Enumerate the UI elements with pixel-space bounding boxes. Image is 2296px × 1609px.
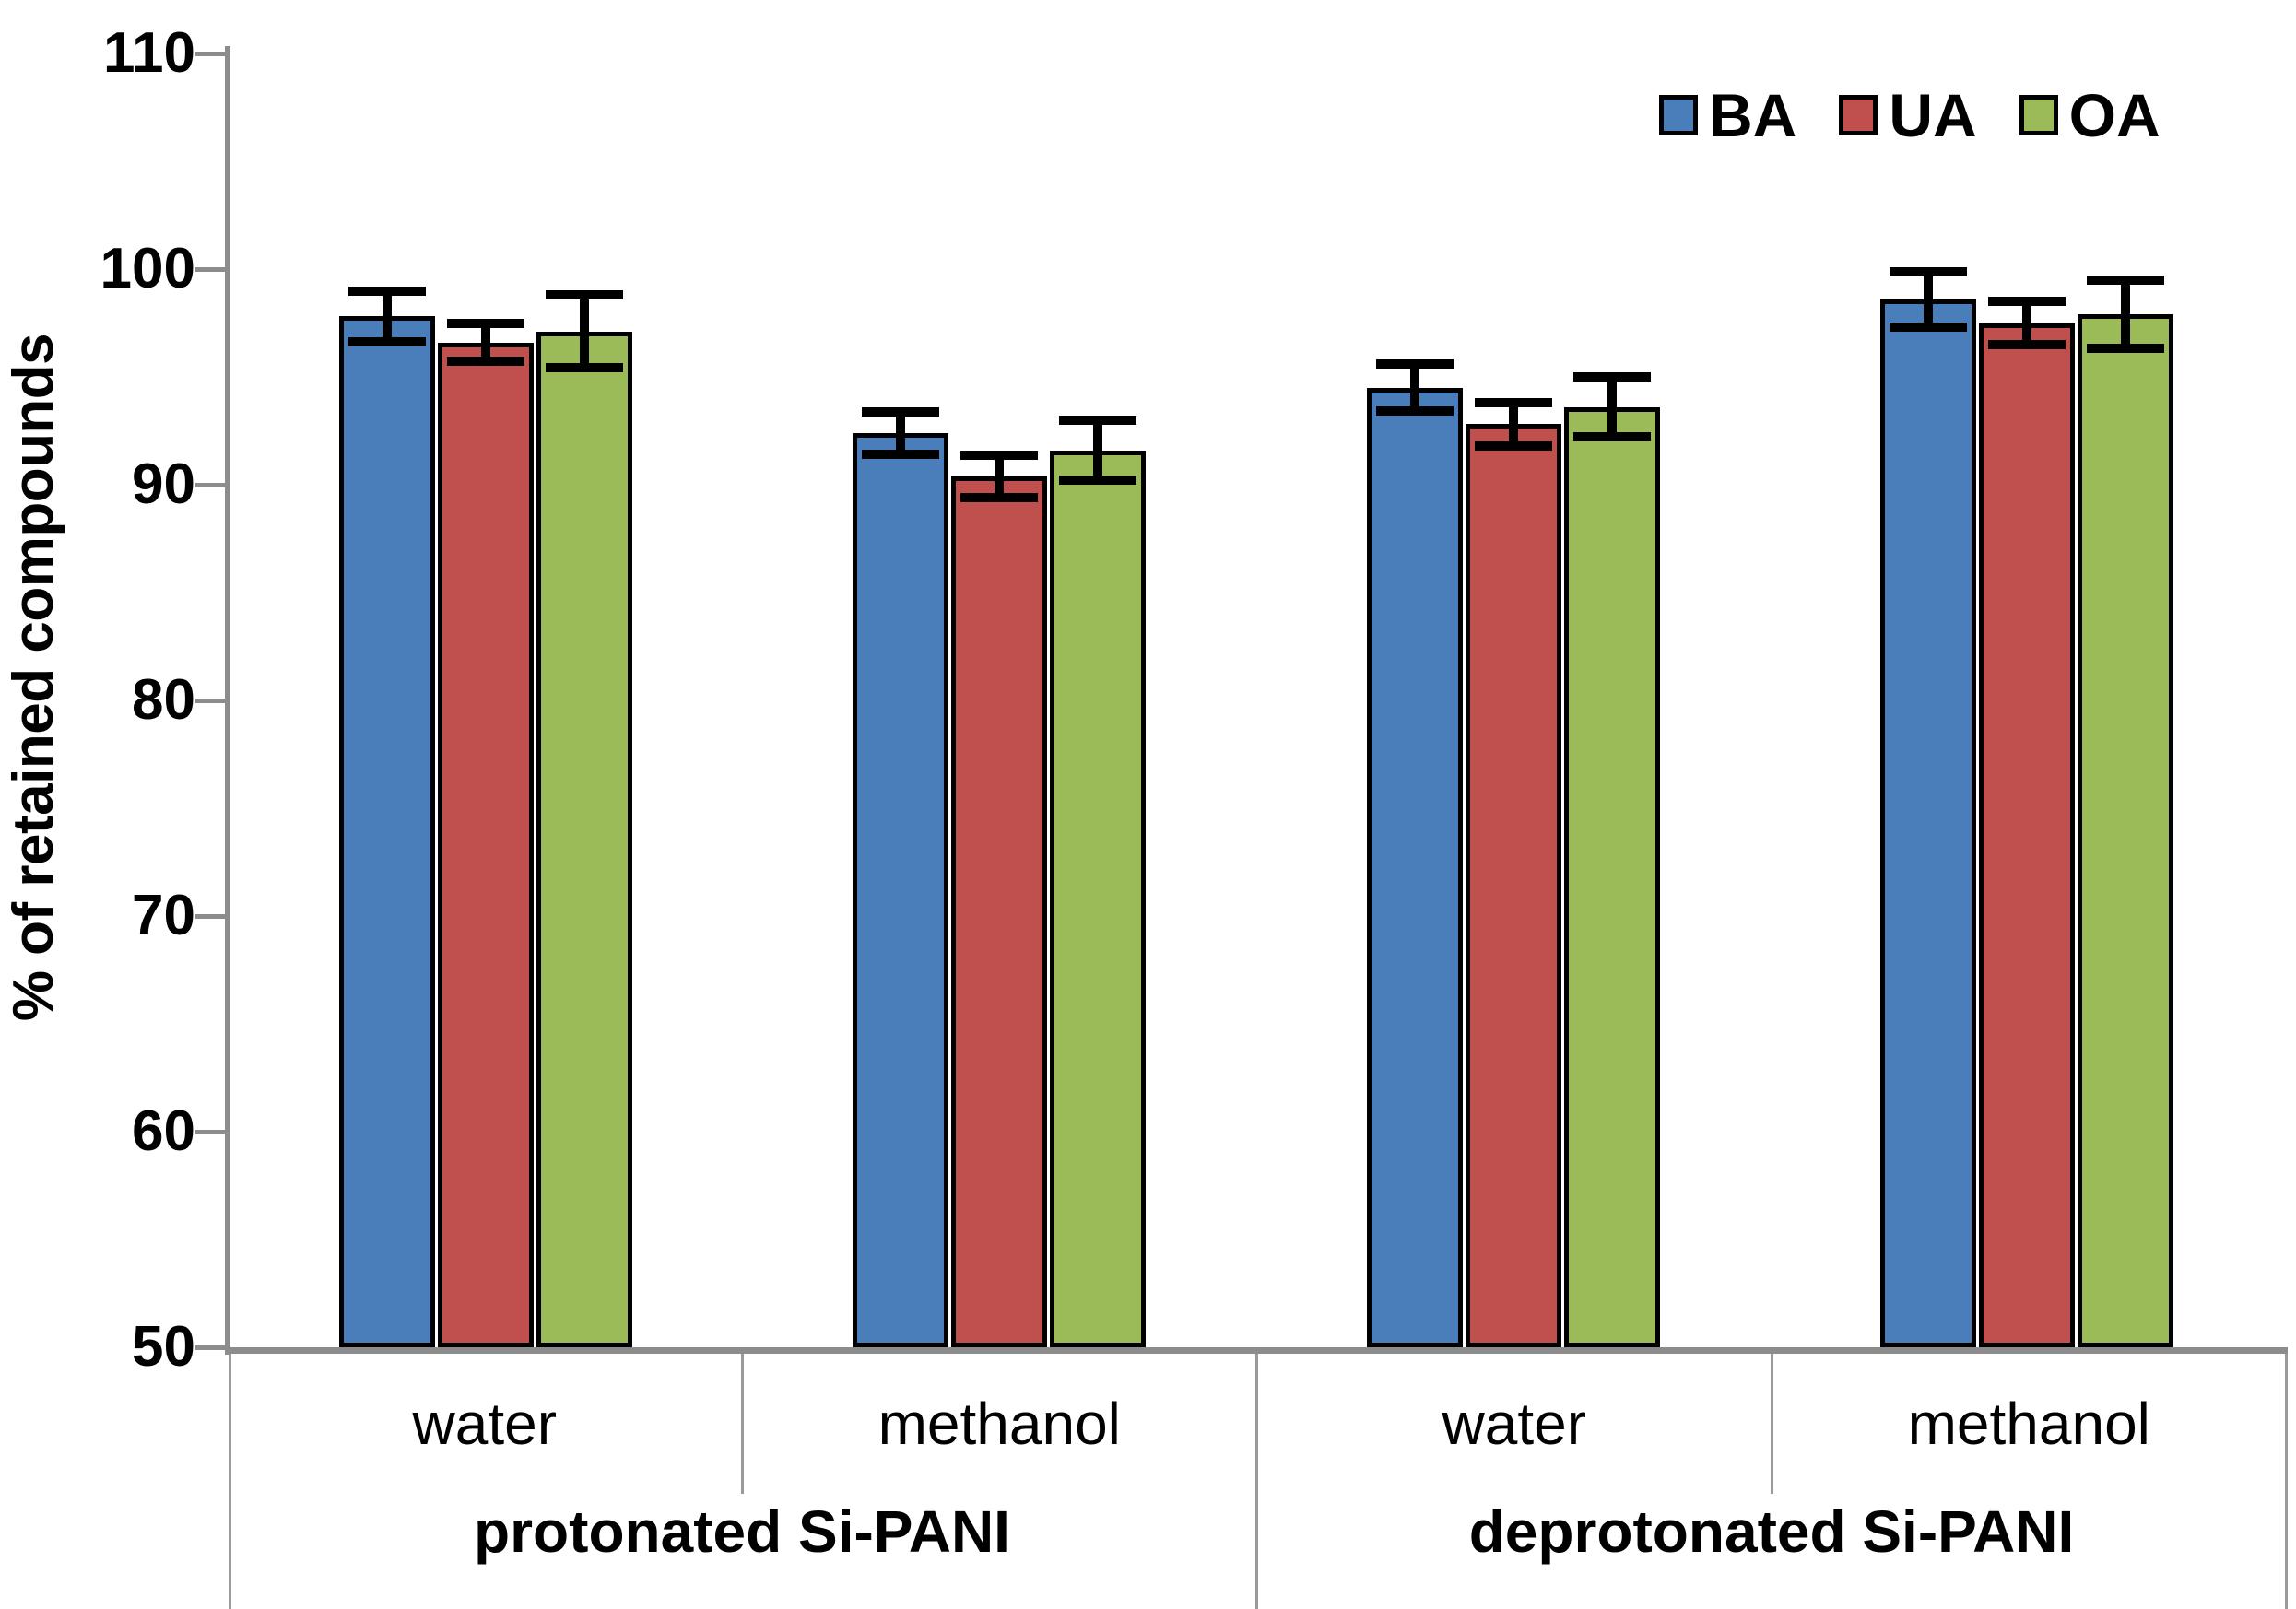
bar-ba-water-0 — [339, 316, 435, 1347]
legend-swatch-icon — [1839, 95, 1878, 135]
x-axis-line — [229, 1347, 2288, 1354]
chart-legend: BAUAOA — [1659, 85, 2161, 146]
error-bar-cap-upper — [862, 407, 939, 417]
legend-item-ba[interactable]: BA — [1659, 85, 1796, 146]
y-tick-mark — [195, 52, 229, 56]
error-bar-cap-lower — [862, 450, 939, 459]
error-bar-cap-upper — [1573, 372, 1651, 382]
error-bar-stem — [2121, 276, 2130, 353]
error-bar-cap-upper — [348, 287, 426, 296]
x-category-label-0: water — [229, 1354, 744, 1494]
y-tick-mark — [195, 699, 229, 703]
error-bar-cap-upper — [1890, 267, 1967, 276]
bar-oa-water-0 — [536, 332, 632, 1347]
error-bar-cap-upper — [1475, 398, 1552, 407]
error-bar-stem — [1093, 416, 1102, 485]
legend-swatch-icon — [1659, 95, 1698, 135]
y-tick-label: 70 — [20, 887, 195, 945]
x-group-label-1: deprotonated Si-PANI — [1258, 1494, 2288, 1609]
error-bar-cap-upper — [960, 451, 1038, 460]
error-bar-cap-upper — [2087, 276, 2164, 285]
legend-label: BA — [1709, 85, 1796, 146]
error-bar-cap-lower — [348, 337, 426, 346]
x-axis-labels: watermethanolwatermethanol protonated Si… — [229, 1354, 2288, 1609]
x-axis-group-row: protonated Si-PANIdeprotonated Si-PANI — [229, 1494, 2288, 1609]
legend-swatch-icon — [2019, 95, 2058, 135]
error-bar-cap-upper — [1376, 359, 1454, 369]
error-bar-cap-lower — [1059, 476, 1136, 485]
y-tick-mark — [195, 267, 229, 272]
bar-oa-methanol-3 — [2078, 314, 2173, 1347]
bar-ua-water-2 — [1466, 424, 1561, 1347]
error-bar-cap-upper — [1059, 416, 1136, 425]
legend-label: OA — [2069, 85, 2161, 146]
y-tick-mark — [195, 1345, 229, 1350]
y-tick-label: 80 — [20, 672, 195, 729]
error-bar-cap-lower — [960, 493, 1038, 502]
bar-ba-water-2 — [1367, 388, 1463, 1347]
error-bar-cap-upper — [546, 290, 623, 299]
plot-area — [229, 53, 2284, 1347]
y-tick-mark — [195, 483, 229, 487]
legend-item-oa[interactable]: OA — [2019, 85, 2161, 146]
bar-ua-methanol-3 — [1979, 323, 2075, 1348]
error-bar-cap-lower — [1573, 432, 1651, 441]
y-tick-label: 60 — [20, 1103, 195, 1160]
error-bar-cap-lower — [546, 363, 623, 372]
y-tick-label: 50 — [20, 1319, 195, 1376]
bar-chart: % of retained compounds 1101009080706050… — [0, 0, 2296, 1609]
error-bar-cap-upper — [447, 319, 524, 328]
legend-label: UA — [1889, 85, 1976, 146]
error-bar-cap-upper — [1988, 297, 2066, 306]
error-bar-stem — [580, 290, 589, 372]
bar-ba-methanol-1 — [853, 433, 948, 1347]
y-tick-label: 90 — [20, 456, 195, 513]
y-axis-tick-labels: 1101009080706050 — [0, 0, 195, 1609]
error-bar-cap-lower — [1376, 406, 1454, 416]
error-bar-stem — [1607, 372, 1617, 441]
y-tick-mark — [195, 1130, 229, 1134]
bar-ua-methanol-1 — [951, 476, 1047, 1347]
bar-ua-water-0 — [438, 343, 534, 1347]
x-category-label-1: methanol — [744, 1354, 1259, 1494]
error-bar-cap-lower — [1890, 323, 1967, 332]
x-axis-category-row: watermethanolwatermethanol — [229, 1354, 2288, 1494]
y-tick-label: 110 — [20, 25, 195, 82]
y-tick-label: 100 — [20, 241, 195, 298]
error-bar-cap-lower — [1988, 340, 2066, 349]
x-group-label-0: protonated Si-PANI — [229, 1494, 1258, 1609]
error-bar-cap-lower — [1475, 441, 1552, 451]
legend-item-ua[interactable]: UA — [1839, 85, 1976, 146]
bar-ba-methanol-3 — [1880, 299, 1976, 1347]
x-category-label-2: water — [1258, 1354, 1773, 1494]
error-bar-cap-lower — [447, 357, 524, 366]
bar-oa-water-2 — [1564, 407, 1660, 1347]
error-bar-cap-lower — [2087, 344, 2164, 353]
y-tick-mark — [195, 914, 229, 919]
x-category-label-3: methanol — [1773, 1354, 2289, 1494]
bar-oa-methanol-1 — [1050, 451, 1146, 1347]
